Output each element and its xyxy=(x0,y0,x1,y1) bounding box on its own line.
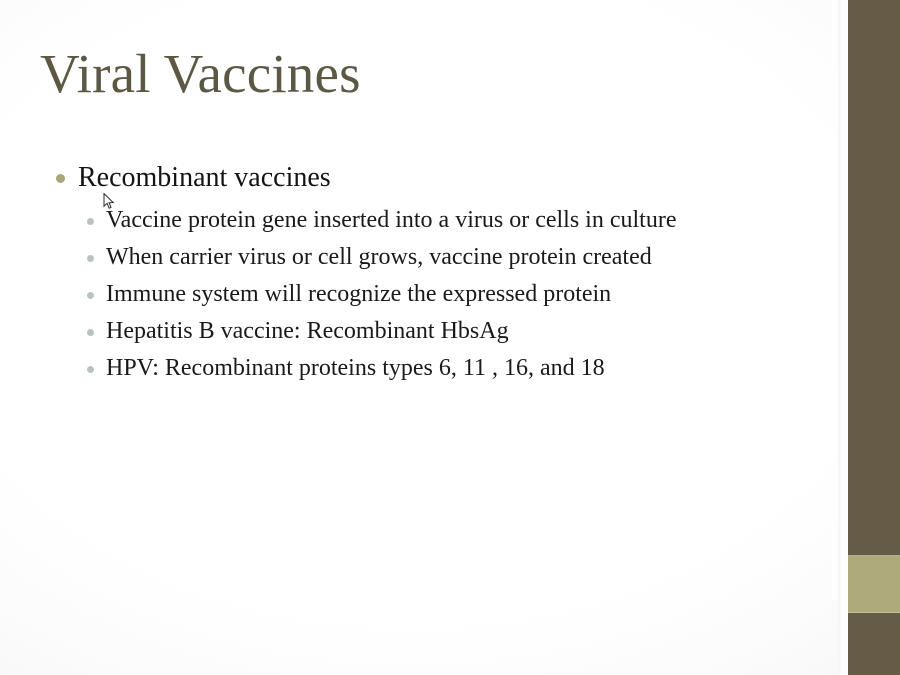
sidebar-gutter xyxy=(838,0,848,675)
bullet-level2-text: Hepatitis B vaccine: Recombinant HbsAg xyxy=(106,318,509,344)
bullet-level2-text: Immune system will recognize the express… xyxy=(106,281,611,307)
bullet-sublist: Vaccine protein gene inserted into a vir… xyxy=(44,202,814,387)
bullet-level2: Vaccine protein gene inserted into a vir… xyxy=(44,202,814,239)
slide-canvas: Viral Vaccines Recombinant vaccines Vacc… xyxy=(0,0,900,675)
bullet-level2: Immune system will recognize the express… xyxy=(44,276,814,313)
slide-body: Recombinant vaccines Vaccine protein gen… xyxy=(44,158,814,387)
bullet-level2: Hepatitis B vaccine: Recombinant HbsAg xyxy=(44,313,814,350)
sidebar-accent-band xyxy=(848,556,900,613)
bullet-dot-icon xyxy=(87,218,94,225)
bullet-level2-text: Vaccine protein gene inserted into a vir… xyxy=(106,207,676,233)
bullet-level1-text: Recombinant vaccines xyxy=(78,162,331,193)
page-title: Viral Vaccines xyxy=(40,42,361,106)
bullet-dot-icon xyxy=(87,292,94,299)
bullet-level1: Recombinant vaccines xyxy=(44,158,814,198)
bullet-dot-icon xyxy=(87,255,94,262)
sidebar-lower-band xyxy=(848,613,900,675)
bullet-level2: When carrier virus or cell grows, vaccin… xyxy=(44,239,814,276)
sidebar-divider-lower xyxy=(848,612,900,613)
bullet-dot-icon xyxy=(87,329,94,336)
sidebar-upper-band xyxy=(848,0,900,556)
bullet-dot-icon xyxy=(87,366,94,373)
right-side-bar xyxy=(848,0,900,675)
sidebar-divider-upper xyxy=(848,555,900,556)
bullet-dot-icon xyxy=(56,174,65,183)
bullet-level2-text: When carrier virus or cell grows, vaccin… xyxy=(106,244,652,270)
bullet-level2-text: HPV: Recombinant proteins types 6, 11 , … xyxy=(106,355,605,381)
bullet-level2: HPV: Recombinant proteins types 6, 11 , … xyxy=(44,350,814,387)
